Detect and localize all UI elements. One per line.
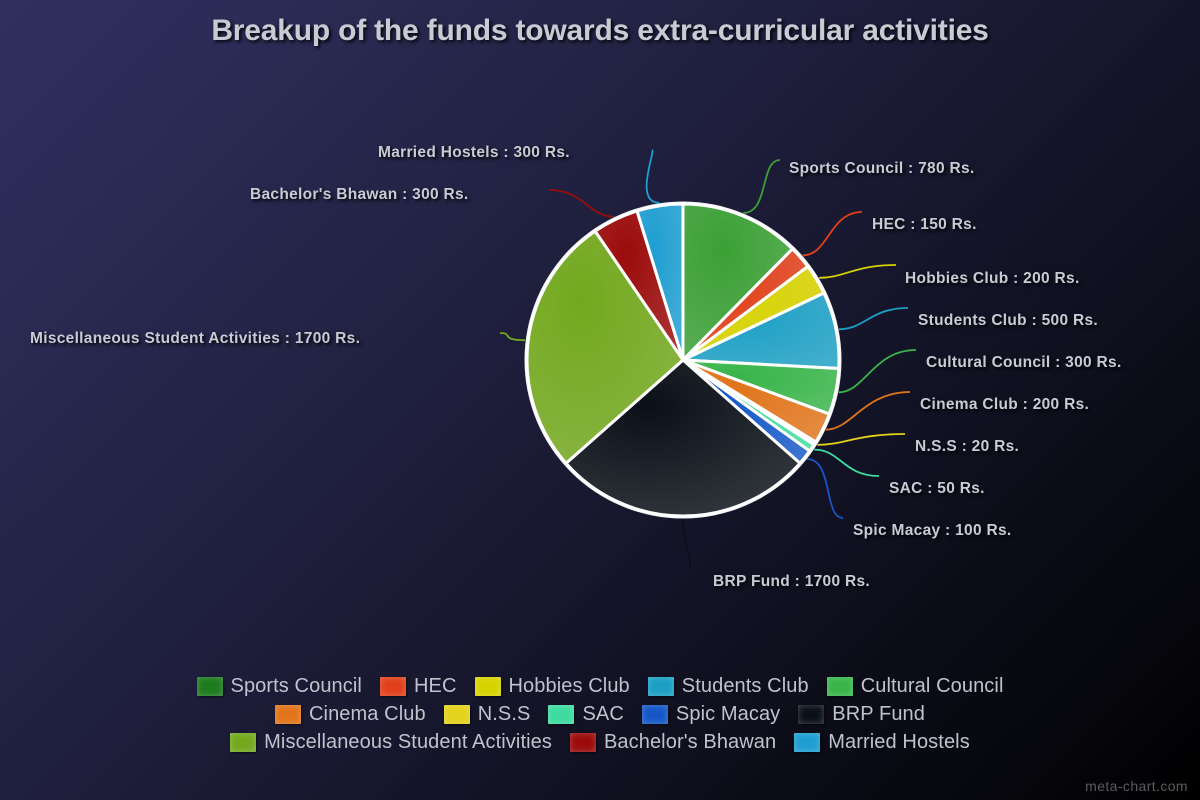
slice-callout-label: Sports Council : 780 Rs. [789,160,975,178]
legend-label: Spic Macay [676,703,780,726]
legend-label: SAC [582,703,623,726]
slice-callout-label: Married Hostels : 300 Rs. [378,144,570,162]
legend-label: BRP Fund [832,703,925,726]
legend-item[interactable]: Married Hostels [794,731,970,754]
legend-swatch-icon [275,705,301,724]
leader-line [817,434,905,445]
slice-callout-label: Bachelor's Bhawan : 300 Rs. [250,186,469,204]
slice-callout-label: Cultural Council : 300 Rs. [926,354,1122,372]
legend-label: N.S.S [478,703,531,726]
leader-line [839,350,916,392]
leader-line [826,392,910,430]
legend-item[interactable]: Spic Macay [642,703,780,726]
legend-swatch-icon [648,677,674,696]
watermark: meta-chart.com [1085,778,1188,794]
leader-line [839,308,908,329]
leader-line [807,459,843,518]
legend-item[interactable]: SAC [548,703,623,726]
legend-swatch-icon [444,705,470,724]
legend-item[interactable]: Miscellaneous Student Activities [230,731,552,754]
legend-item[interactable]: Cultural Council [827,675,1004,698]
slice-callout-label: BRP Fund : 1700 Rs. [713,573,870,591]
leader-line [683,519,690,568]
legend-row: Sports CouncilHECHobbies ClubStudents Cl… [0,672,1200,700]
legend-swatch-icon [380,677,406,696]
legend-swatch-icon [230,733,256,752]
legend-item[interactable]: Bachelor's Bhawan [570,731,776,754]
pie-chart-page: Breakup of the funds towards extra-curri… [0,0,1200,800]
slice-callout-label: Cinema Club : 200 Rs. [920,396,1089,414]
legend-label: HEC [414,675,457,698]
legend-swatch-icon [570,733,596,752]
slice-callout-label: Miscellaneous Student Activities : 1700 … [30,330,360,348]
leader-line [819,265,896,278]
leader-line [803,212,862,255]
slice-callout-label: Hobbies Club : 200 Rs. [905,270,1080,288]
legend-label: Hobbies Club [509,675,630,698]
leader-line [647,150,660,203]
slice-callout-label: Spic Macay : 100 Rs. [853,522,1012,540]
slice-callout-label: HEC : 150 Rs. [872,216,977,234]
legend-label: Students Club [682,675,809,698]
legend-item[interactable]: Hobbies Club [475,675,630,698]
legend-label: Sports Council [231,675,362,698]
pie-slices: Sports Council : 780 Rs.HEC : 150 Rs.Hob… [527,204,839,516]
legend-label: Married Hostels [828,731,970,754]
legend-item[interactable]: N.S.S [444,703,531,726]
slice-callout-label: Students Club : 500 Rs. [918,312,1098,330]
legend-row: Miscellaneous Student ActivitiesBachelor… [0,728,1200,756]
legend-swatch-icon [827,677,853,696]
legend-swatch-icon [642,705,668,724]
legend-label: Cinema Club [309,703,426,726]
legend-row: Cinema ClubN.S.SSACSpic MacayBRP Fund [0,700,1200,728]
leader-line [500,333,525,340]
legend-swatch-icon [794,733,820,752]
legend-item[interactable]: BRP Fund [798,703,925,726]
slice-callout-label: N.S.S : 20 Rs. [915,438,1019,456]
legend-label: Miscellaneous Student Activities [264,731,552,754]
legend-item[interactable]: Cinema Club [275,703,426,726]
chart-legend: Sports CouncilHECHobbies ClubStudents Cl… [0,672,1200,756]
legend-swatch-icon [798,705,824,724]
leader-line [743,160,780,213]
legend-label: Bachelor's Bhawan [604,731,776,754]
leader-line [549,190,614,217]
legend-swatch-icon [475,677,501,696]
leader-line [814,450,879,476]
legend-item[interactable]: Sports Council [197,675,362,698]
legend-label: Cultural Council [861,675,1004,698]
legend-swatch-icon [197,677,223,696]
legend-item[interactable]: Students Club [648,675,809,698]
legend-swatch-icon [548,705,574,724]
slice-callout-label: SAC : 50 Rs. [889,480,985,498]
legend-item[interactable]: HEC [380,675,457,698]
